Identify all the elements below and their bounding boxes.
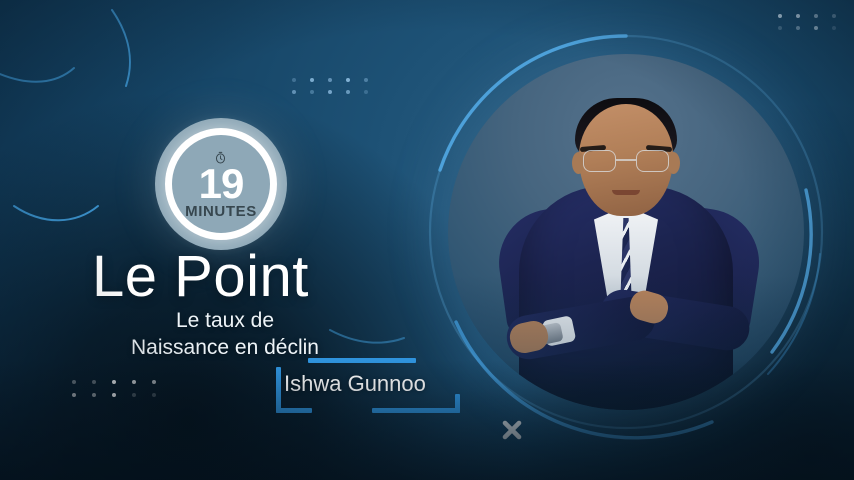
- duration-badge: 19 MINUTES: [155, 118, 287, 250]
- presenter-figure: [448, 54, 804, 410]
- guest-name-banner: Ishwa Gunnoo: [262, 358, 477, 414]
- dot-grid-top-right: [778, 14, 836, 30]
- dot-grid-top-middle: [292, 78, 368, 94]
- guest-name: Ishwa Gunnoo: [284, 371, 426, 397]
- presenter-portrait: [448, 54, 804, 410]
- x-mark-icon: [500, 418, 524, 442]
- banner-bar-bottom: [372, 408, 460, 413]
- eyeglasses-icon: [583, 150, 669, 174]
- broadcast-lower-third-graphic: 19 MINUTES Le Point Le taux de Naissance…: [0, 0, 854, 480]
- subtitle: Le taux de Naissance en déclin: [100, 308, 350, 362]
- badge-number: 19: [185, 165, 257, 204]
- wristwatch-icon: [538, 322, 563, 345]
- banner-bar-left: [276, 367, 281, 413]
- portrait-disc: [448, 54, 804, 410]
- badge-unit-label: MINUTES: [185, 204, 257, 219]
- dot-grid-bottom-left: [72, 380, 156, 397]
- page-title: Le Point: [92, 248, 309, 306]
- subtitle-line-1: Le taux de: [100, 308, 350, 335]
- banner-bar-bottom-left: [276, 408, 312, 413]
- banner-bar-right: [455, 394, 460, 413]
- banner-bar-top: [308, 358, 416, 363]
